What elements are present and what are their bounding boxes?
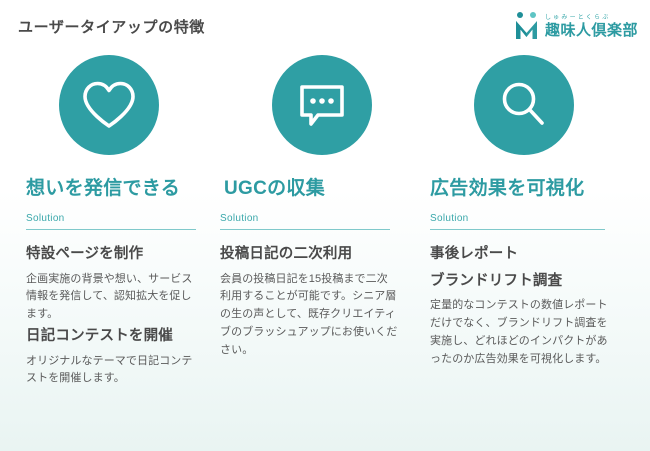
speech-bubble-icon: [272, 55, 372, 155]
solution-label: Solution: [220, 213, 403, 229]
magnifier-icon: [474, 55, 574, 155]
brand-name: 趣味人倶楽部: [545, 23, 638, 38]
solution-divider: [220, 229, 390, 230]
solution-divider: [430, 229, 605, 230]
content-block: 投稿日記の二次利用 会員の投稿日記を15投稿まで二次利用することが可能です。シニ…: [220, 244, 403, 360]
brand-furigana: しゅみーとくらぶ: [545, 15, 610, 21]
body-text: 定量的なコンテストの数値レポートだけでなく、ブランドリフト調査を実施し、どれほど…: [430, 297, 608, 368]
m-monogram-icon: [514, 11, 540, 41]
solution-block: Solution: [430, 213, 638, 230]
brand-text: しゅみーとくらぶ 趣味人倶楽部: [545, 15, 638, 38]
sub-heading-line-2: ブランドリフト調査: [430, 271, 638, 292]
feature-column-2: UGCの収集 Solution 投稿日記の二次利用 会員の投稿日記を15投稿まで…: [210, 55, 415, 390]
body-text: 会員の投稿日記を15投稿まで二次利用することが可能です。シニア層の生の声として、…: [220, 271, 398, 360]
solution-block: Solution: [26, 213, 198, 230]
slide-canvas: ユーザータイアップの特徴 しゅみーとくらぶ 趣味人倶楽部 想いを発信できる: [0, 0, 650, 451]
solution-divider: [26, 229, 196, 230]
solution-label: Solution: [26, 213, 198, 229]
body-text: オリジナルなテーマで日記コンテストを開催します。: [26, 353, 198, 389]
content-block: 事後レポート ブランドリフト調査 定量的なコンテストの数値レポートだけでなく、ブ…: [430, 244, 638, 368]
feature-column-3: 広告効果を可視化 Solution 事後レポート ブランドリフト調査 定量的なコ…: [415, 55, 650, 390]
content-block: 特設ページを制作 企画実施の背景や想い、サービス情報を発信して、認知拡大を促しま…: [26, 244, 198, 324]
page-title: ユーザータイアップの特徴: [18, 16, 205, 37]
column-heading: UGCの収集: [224, 173, 403, 200]
feature-columns: 想いを発信できる Solution 特設ページを制作 企画実施の背景や想い、サー…: [0, 55, 650, 390]
column-heading: 想いを発信できる: [26, 173, 198, 200]
solution-label: Solution: [430, 213, 638, 229]
solution-block: Solution: [220, 213, 403, 230]
heart-icon: [59, 55, 159, 155]
sub-heading: 事後レポート: [430, 244, 638, 265]
sub-heading: 特設ページを制作: [26, 244, 198, 265]
column-heading: 広告効果を可視化: [430, 173, 638, 200]
content-block: 日記コンテストを開催 オリジナルなテーマで日記コンテストを開催します。: [26, 326, 198, 388]
sub-heading: 日記コンテストを開催: [26, 326, 198, 347]
sub-heading: 投稿日記の二次利用: [220, 244, 403, 265]
brand-logo: しゅみーとくらぶ 趣味人倶楽部: [514, 11, 638, 41]
feature-column-1: 想いを発信できる Solution 特設ページを制作 企画実施の背景や想い、サー…: [0, 55, 210, 390]
body-text: 企画実施の背景や想い、サービス情報を発信して、認知拡大を促します。: [26, 271, 198, 324]
